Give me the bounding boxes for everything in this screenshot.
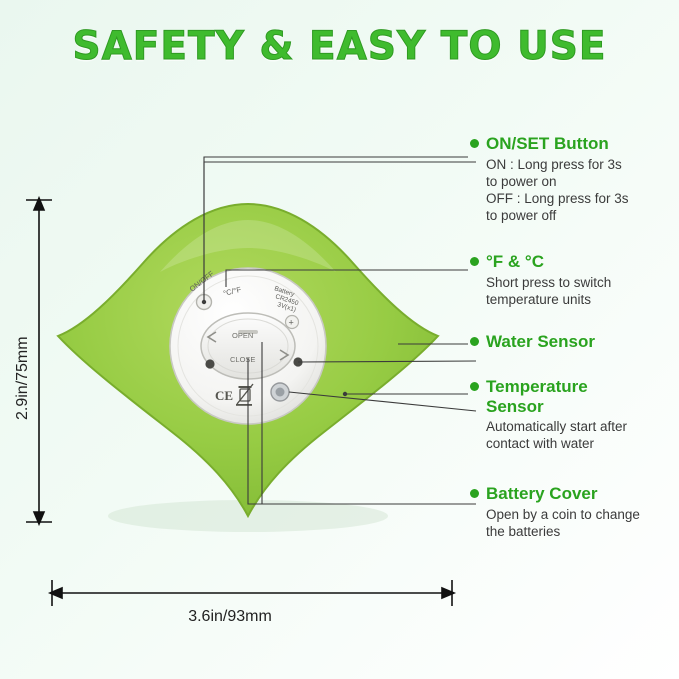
ce-mark: CE bbox=[215, 388, 233, 403]
dimension-width-label: 3.6in/93mm bbox=[0, 608, 460, 626]
callout-body-line: Short press to switch bbox=[486, 274, 611, 291]
callout-heading: Temperature bbox=[486, 377, 588, 397]
callout-body-line: the batteries bbox=[486, 523, 640, 540]
callout-heading: ON/SET Button bbox=[486, 134, 609, 154]
callout-heading-second-line: Sensor bbox=[486, 397, 544, 417]
callout-body-line: OFF : Long press for 3s bbox=[486, 190, 629, 207]
callout-body-line: Automatically start after bbox=[486, 418, 627, 435]
callout-body-line: contact with water bbox=[486, 435, 627, 452]
callout-body-line: temperature units bbox=[486, 291, 611, 308]
callout-temperature-sensor: Temperature Sensor Automatically start a… bbox=[470, 377, 627, 452]
bullet-dot-icon bbox=[470, 337, 479, 346]
label-plus: + bbox=[289, 318, 294, 328]
arrow-up-icon bbox=[34, 198, 44, 210]
callout-body: Open by a coin to change the batteries bbox=[486, 506, 640, 540]
callout-heading-row: Temperature bbox=[470, 377, 627, 397]
callout-heading-row: Water Sensor bbox=[470, 332, 595, 352]
arrow-down-icon bbox=[34, 512, 44, 524]
callout-water-sensor: Water Sensor bbox=[470, 332, 595, 352]
callout-heading-row: Battery Cover bbox=[470, 484, 640, 504]
callout-heading-row: ON/SET Button bbox=[470, 134, 629, 154]
callout-battery-cover: Battery Cover Open by a coin to change t… bbox=[470, 484, 640, 540]
bullet-dot-icon bbox=[470, 382, 479, 391]
product-svg: OPEN CLOSE ON/OFF °C/°F Battery CR2450 3… bbox=[52, 186, 452, 546]
label-close: CLOSE bbox=[230, 355, 255, 364]
label-open: OPEN bbox=[232, 331, 253, 340]
product-illustration: OPEN CLOSE ON/OFF °C/°F Battery CR2450 3… bbox=[52, 186, 452, 546]
temperature-sensor-core bbox=[276, 388, 285, 397]
bullet-dot-icon bbox=[470, 139, 479, 148]
callout-body-line: to power off bbox=[486, 207, 629, 224]
callout-body-line: Open by a coin to change bbox=[486, 506, 640, 523]
callout-body: Short press to switch temperature units bbox=[486, 274, 611, 308]
callout-heading-row: °F & °C bbox=[470, 252, 611, 272]
bullet-dot-icon bbox=[470, 257, 479, 266]
bullet-dot-icon bbox=[470, 489, 479, 498]
arrow-left-icon bbox=[50, 588, 62, 598]
callout-temperature-units: °F & °C Short press to switch temperatur… bbox=[470, 252, 611, 308]
callout-heading: °F & °C bbox=[486, 252, 544, 272]
arrow-right-icon bbox=[442, 588, 454, 598]
callout-heading: Battery Cover bbox=[486, 484, 598, 504]
water-sensor-left bbox=[205, 359, 214, 368]
callout-body-line: ON : Long press for 3s bbox=[486, 156, 629, 173]
callout-body: Automatically start after contact with w… bbox=[486, 418, 627, 452]
callout-on-set-button: ON/SET Button ON : Long press for 3s to … bbox=[470, 134, 629, 224]
callout-body-line: to power on bbox=[486, 173, 629, 190]
callout-heading: Water Sensor bbox=[486, 332, 595, 352]
callout-body: ON : Long press for 3s to power on OFF :… bbox=[486, 156, 629, 225]
dimension-height-label: 2.9in/75mm bbox=[14, 336, 32, 420]
page-title: SAFETY & EASY TO USE bbox=[0, 24, 679, 69]
callout-heading-row-2: Sensor bbox=[486, 397, 627, 417]
